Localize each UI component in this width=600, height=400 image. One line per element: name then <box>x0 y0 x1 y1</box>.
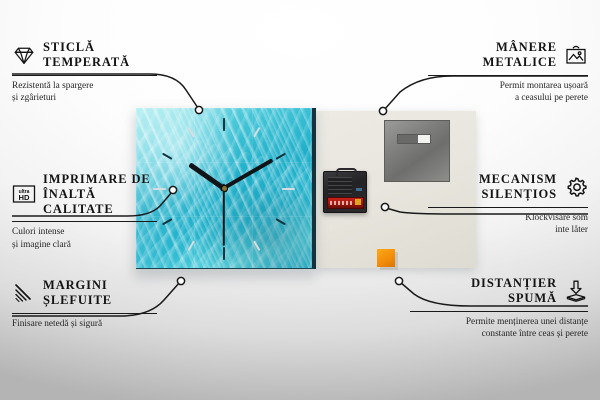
feature-subtitle: Culori intense și imagine clară <box>12 226 157 251</box>
feature-silent-mechanism: MECANISMSILENȚIOS Klockvisare som inte l… <box>428 172 588 236</box>
feature-foam-spacer: DISTANȚIERSPUMĂ Permite menținerea unei … <box>410 276 588 340</box>
feature-subtitle: Rezistentă la spargere și zgârieturi <box>12 80 157 105</box>
connector-node-print <box>169 186 176 193</box>
feature-subtitle: Permite menținerea unei distanțe constan… <box>410 316 588 341</box>
polished-edges-icon <box>12 281 36 305</box>
ultra-hd-icon: ultra HD <box>12 182 36 206</box>
connector-node-edges <box>177 277 184 284</box>
feature-polished-edges: MARGINIȘLEFUITE Finisare netedă și sigur… <box>12 278 157 330</box>
feature-subtitle: Klockvisare som inte låter <box>428 212 588 237</box>
feature-title: IMPRIMARE DEÎNALTĂ CALITATE <box>43 172 157 216</box>
down-arrow-stack-icon <box>564 279 588 303</box>
feature-subtitle: Finisare netedă și sigură <box>12 318 157 330</box>
feature-tempered-glass: STICLĂTEMPERATĂ Rezistentă la spargere ș… <box>12 40 157 104</box>
feature-subtitle: Permit montarea ușoară a ceasului pe per… <box>428 80 588 105</box>
connector-node-spacer <box>395 277 402 284</box>
connector-node-tempered-glass <box>195 106 202 113</box>
feature-metal-handles: MÂNEREMETALICE Permit montarea ușoară a … <box>428 40 588 104</box>
feature-title: DISTANȚIERSPUMĂ <box>471 276 557 306</box>
picture-frame-hook-icon <box>564 43 588 67</box>
feature-high-quality-print: ultra HD IMPRIMARE DEÎNALTĂ CALITATE Cul… <box>12 172 157 251</box>
product-infographic: STICLĂTEMPERATĂ Rezistentă la spargere ș… <box>0 0 600 400</box>
gear-icon <box>564 175 588 199</box>
feature-title: STICLĂTEMPERATĂ <box>43 40 130 70</box>
connector-node-mechanism <box>381 203 388 210</box>
connector-node-handles <box>379 107 386 114</box>
diamond-icon <box>12 43 36 67</box>
svg-text:HD: HD <box>19 193 30 202</box>
feature-title: MÂNEREMETALICE <box>483 40 557 70</box>
feature-title: MARGINIȘLEFUITE <box>43 278 112 308</box>
feature-title: MECANISMSILENȚIOS <box>479 172 557 202</box>
